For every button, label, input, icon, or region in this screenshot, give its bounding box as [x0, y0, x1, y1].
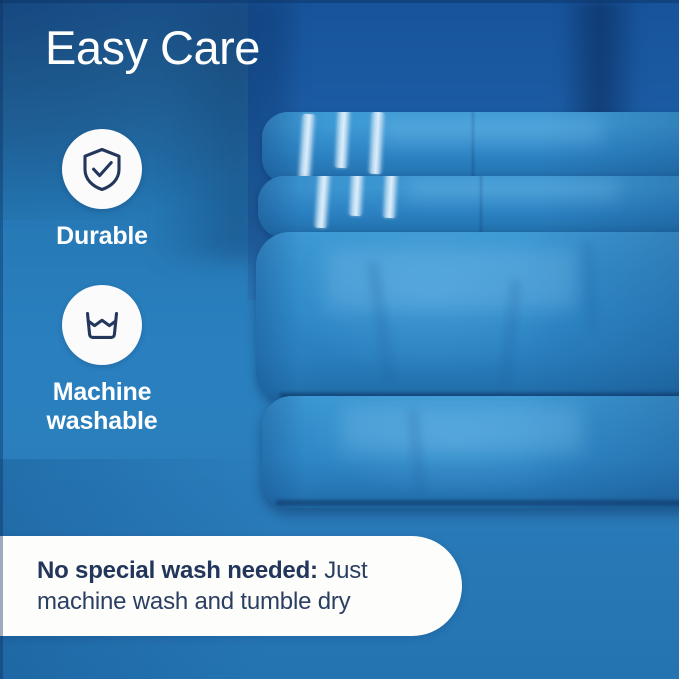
- frame-edge-top: [0, 0, 679, 3]
- wash-tub-icon: [62, 285, 142, 365]
- roll-highlight: [382, 118, 602, 144]
- roll-left-shading: [262, 112, 332, 184]
- embroidery-stripe: [383, 176, 399, 218]
- embroidery-stripe: [334, 112, 350, 168]
- feature-label-line-2: washable: [47, 407, 158, 435]
- folded-sheet-large: [256, 232, 679, 402]
- banner-text: No special wash needed: Just machine was…: [37, 555, 428, 617]
- fold-left-shading: [262, 396, 324, 508]
- feature-durable: Durable: [16, 129, 188, 251]
- feature-machine-washable: Machine washable: [16, 285, 188, 437]
- banner-bold-text: No special wash needed:: [37, 557, 318, 584]
- rolled-pillowcase-second: [258, 176, 679, 238]
- fold-left-shading: [256, 232, 318, 402]
- rolled-pillowcase-top: [262, 112, 679, 184]
- frame-edge-left: [0, 0, 3, 679]
- shield-check-icon: [62, 129, 142, 209]
- feature-label-durable: Durable: [16, 222, 188, 251]
- embroidery-stripe: [314, 176, 331, 228]
- feature-label-line-1: Machine: [53, 378, 152, 406]
- embroidery-stripe: [349, 176, 364, 216]
- fold-highlight: [342, 406, 582, 452]
- bottom-banner: No special wash needed: Just machine was…: [0, 536, 462, 636]
- feature-label-machine-washable: Machine washable: [16, 378, 188, 437]
- roll-highlight: [408, 178, 618, 200]
- folded-sheet-bottom: [262, 396, 679, 508]
- page-title: Easy Care: [45, 22, 260, 75]
- fold-bottom-shadow: [276, 500, 679, 506]
- fold-highlight: [326, 250, 576, 310]
- product-feature-graphic: Easy Care Durable Machine washable No sp…: [0, 0, 679, 679]
